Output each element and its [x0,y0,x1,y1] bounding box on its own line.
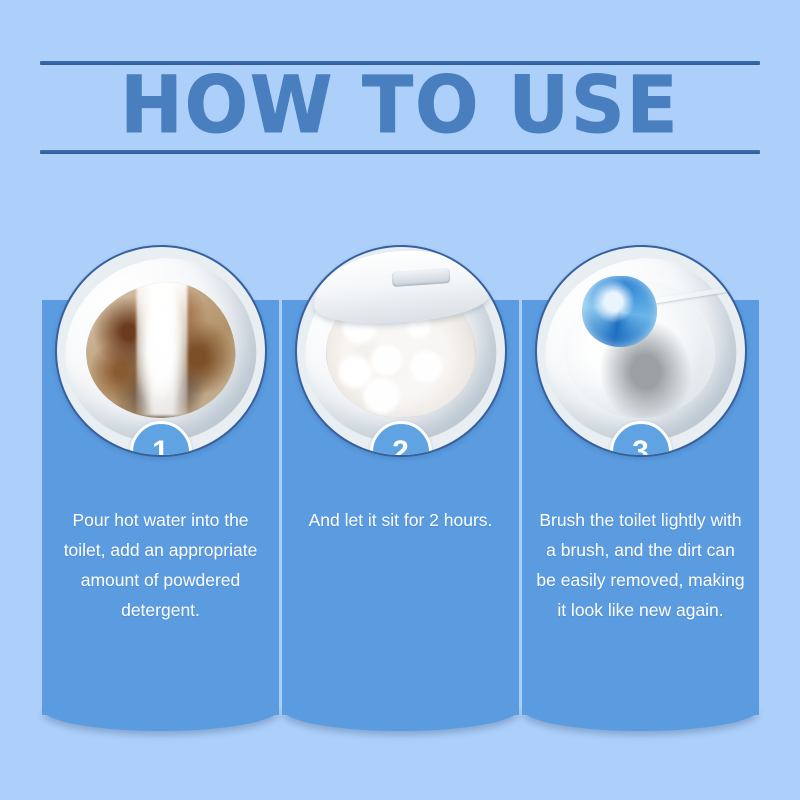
step-caption-2: And let it sit for 2 hours. [296,505,505,535]
step-caption-1: Pour hot water into the toilet, add an a… [56,505,265,625]
step-image-1: 1 [55,245,267,457]
step-caption-3: Brush the toilet lightly with a brush, a… [536,505,745,625]
step-card-3: 3 Brush the toilet lightly with a brush,… [522,300,759,715]
step-image-2: 2 [295,245,507,457]
steps-row: 1 Pour hot water into the toilet, add an… [0,0,800,800]
step-image-3: 3 [535,245,747,457]
step-card-1: 1 Pour hot water into the toilet, add an… [42,300,279,715]
infographic-root: HOW TO USE 1 Pour hot water into the toi… [0,0,800,800]
step-card-2: 2 And let it sit for 2 hours. [282,300,519,715]
